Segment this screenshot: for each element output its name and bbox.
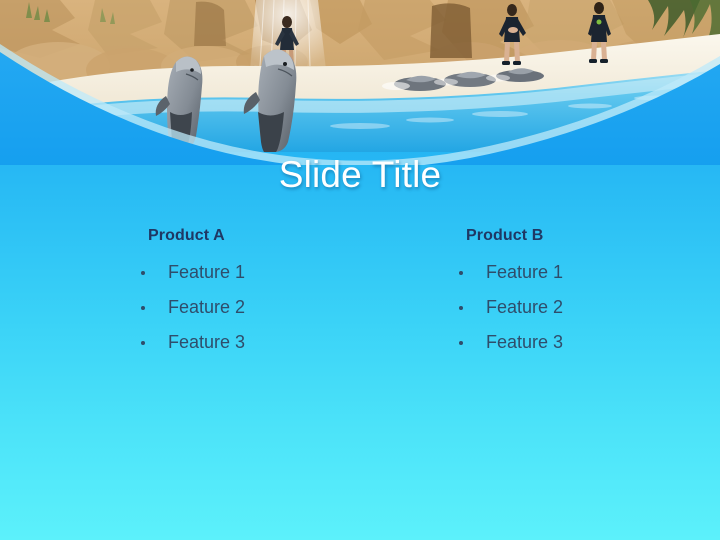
content-columns: Product A Feature 1 Feature 2 Feature 3 … — [0, 226, 720, 386]
page-title: Slide Title — [0, 153, 720, 197]
feature-label: Feature 1 — [486, 262, 563, 282]
list-item: Feature 3 — [130, 325, 410, 360]
product-a-feature-list: Feature 1 Feature 2 Feature 3 — [130, 255, 410, 360]
bullet-icon — [459, 306, 463, 310]
feature-label: Feature 3 — [168, 332, 245, 352]
feature-label: Feature 2 — [486, 297, 563, 317]
product-column-a: Product A Feature 1 Feature 2 Feature 3 — [130, 226, 410, 360]
feature-label: Feature 2 — [168, 297, 245, 317]
bullet-icon — [141, 306, 145, 310]
bullet-icon — [459, 341, 463, 345]
list-item: Feature 1 — [130, 255, 410, 290]
bullet-icon — [141, 341, 145, 345]
product-a-heading: Product A — [148, 226, 410, 246]
list-item: Feature 3 — [448, 325, 720, 360]
presentation-slide: Slide Title Product A Feature 1 Feature … — [0, 0, 720, 540]
bullet-icon — [459, 271, 463, 275]
bullet-icon — [141, 271, 145, 275]
feature-label: Feature 3 — [486, 332, 563, 352]
list-item: Feature 1 — [448, 255, 720, 290]
product-column-b: Product B Feature 1 Feature 2 Feature 3 — [448, 226, 720, 360]
dolphin-show-photo-illustration — [0, 0, 720, 152]
product-b-heading: Product B — [466, 226, 720, 246]
product-b-feature-list: Feature 1 Feature 2 Feature 3 — [448, 255, 720, 360]
header-photo — [0, 0, 720, 152]
feature-label: Feature 1 — [168, 262, 245, 282]
list-item: Feature 2 — [448, 290, 720, 325]
list-item: Feature 2 — [130, 290, 410, 325]
